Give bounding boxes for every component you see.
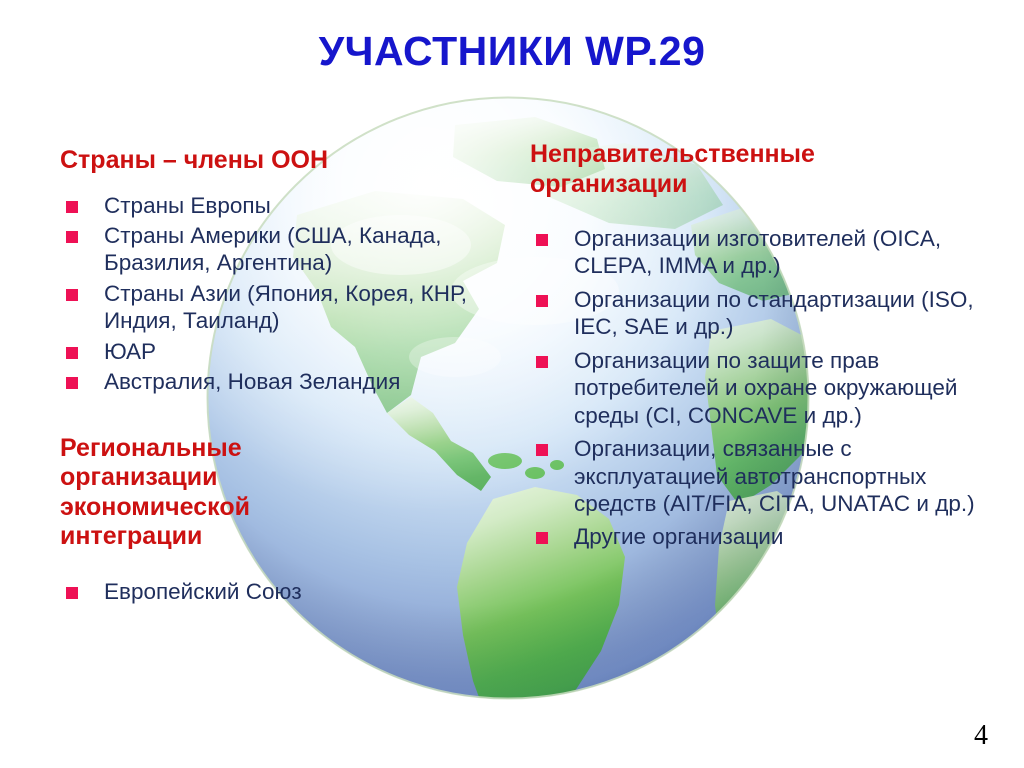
presentation-slide: УЧАСТНИКИ WP.29 Страны – члены ООН Стран… (0, 0, 1024, 768)
list-item: Организации по стандартизации (ISO, IEC,… (530, 286, 975, 341)
right-content-column: Неправительственные организации Организа… (530, 140, 975, 557)
list-item: Европейский Союз (60, 578, 515, 605)
regional-organizations-list: Европейский Союз (60, 578, 515, 605)
left-content-column: Страны – члены ООН Страны Европы Страны … (60, 146, 515, 608)
un-member-countries-heading: Страны – члены ООН (60, 146, 515, 176)
list-item: Организации изготовителей (OICA, CLEPA, … (530, 225, 975, 280)
list-item: Организации, связанные с эксплуатацией а… (530, 435, 975, 517)
list-item: Страны Америки (США, Канада, Бразилия, А… (60, 222, 515, 277)
list-item: ЮАР (60, 338, 515, 365)
list-item: Другие организации (530, 523, 975, 550)
list-item: Страны Азии (Япония, Корея, КНР, Индия, … (60, 280, 515, 335)
list-item: Австралия, Новая Зеландия (60, 368, 515, 395)
un-member-countries-list: Страны Европы Страны Америки (США, Канад… (60, 192, 515, 396)
slide-title: УЧАСТНИКИ WP.29 (0, 30, 1024, 73)
list-item: Страны Европы (60, 192, 515, 219)
non-governmental-organizations-heading: Неправительственные организации (530, 140, 975, 199)
regional-economic-integration-heading: Региональные организации экономической и… (60, 434, 340, 552)
ngo-list: Организации изготовителей (OICA, CLEPA, … (530, 225, 975, 551)
page-number: 4 (974, 722, 988, 750)
list-item: Организации по защите прав потребителей … (530, 347, 975, 429)
